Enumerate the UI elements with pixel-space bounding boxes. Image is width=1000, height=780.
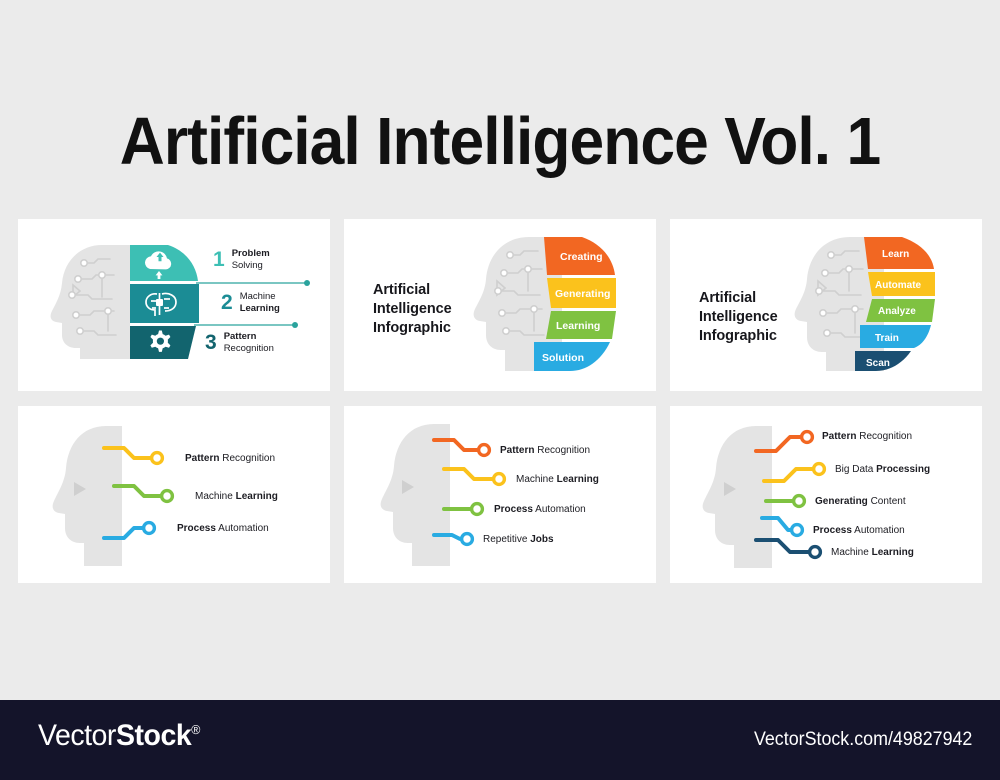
head-silhouette-solid: [381, 424, 450, 566]
connector-label-3: Process Automation: [494, 505, 586, 515]
connector-endpoint-4: [462, 534, 473, 545]
connector-label-1: Pattern Recognition: [185, 454, 275, 464]
card3-heading: Artificial Intelligence Infographic: [699, 289, 778, 346]
head-segment-problem-solving[interactable]: [130, 245, 198, 281]
band-label-solution: Solution: [542, 352, 584, 364]
band-label-analyze: Analyze: [878, 306, 916, 317]
head-silhouette-solid: [703, 426, 772, 568]
connector-path-2: [444, 469, 496, 479]
step-item-2[interactable]: 2 MachineLearning: [221, 291, 280, 314]
connector-label-2: Machine Learning: [195, 492, 278, 502]
infographic-page: Artificial Intelligence Vol. 1: [0, 0, 1000, 780]
connector-line-1: [196, 280, 310, 286]
connector-label-3: Generating Content: [815, 497, 906, 507]
band-label-train: Train: [875, 333, 899, 344]
connector-label-1: Pattern Recognition: [822, 432, 912, 442]
card-three-connectors[interactable]: Pattern Recognition Machine Learning Pro…: [18, 406, 330, 583]
band-label-generating: Generating: [555, 288, 610, 300]
vectorstock-logo: VectorStock®: [38, 721, 200, 751]
band-label-learning: Learning: [556, 320, 600, 332]
card-four-band-head[interactable]: Artificial Intelligence Infographic: [344, 219, 656, 391]
band-label-automate: Automate: [875, 280, 922, 291]
head-segment-machine-learning[interactable]: [130, 284, 199, 323]
step-item-1[interactable]: 1 ProblemSolving: [213, 248, 270, 271]
head-silhouette-circuit: [51, 245, 130, 359]
connector-label-3: Process Automation: [177, 524, 269, 534]
step-label-2: MachineLearning: [240, 291, 280, 314]
connector-endpoint-4: [792, 525, 803, 536]
step-item-3[interactable]: 3 PatternRecognition: [205, 331, 274, 354]
connector-endpoint-3: [472, 504, 483, 515]
card5-graphic: [344, 406, 656, 583]
connector-label-5: Machine Learning: [831, 548, 914, 558]
connector-label-2: Big Data Processing: [835, 465, 930, 475]
card-five-band-head[interactable]: Artificial Intelligence Infographic: [670, 219, 982, 391]
connector-endpoint-2: [814, 464, 825, 475]
head-segment-pattern-recognition[interactable]: [130, 326, 196, 359]
card-four-connectors[interactable]: Pattern Recognition Machine Learning Pro…: [344, 406, 656, 583]
connector-endpoint-2: [494, 474, 505, 485]
connector-label-4: Repetitive Jobs: [483, 535, 554, 545]
step-number-2: 2: [221, 292, 233, 313]
band-label-creating: Creating: [560, 251, 603, 263]
step-label-1: ProblemSolving: [232, 248, 270, 271]
step-number-1: 1: [213, 249, 225, 270]
connector-line-2: [194, 322, 298, 328]
vectorstock-url: VectorStock.com/49827942: [754, 730, 972, 749]
connector-endpoint-3: [144, 523, 155, 534]
connector-endpoint-1: [479, 445, 490, 456]
card2-heading: Artificial Intelligence Infographic: [373, 281, 452, 338]
page-title: Artificial Intelligence Vol. 1: [35, 103, 965, 180]
connector-label-4: Process Automation: [813, 526, 905, 536]
card4-graphic: [18, 406, 330, 583]
connector-endpoint-5: [810, 547, 821, 558]
step-number-3: 3: [205, 332, 217, 353]
band-label-scan: Scan: [866, 358, 890, 369]
card-five-connectors[interactable]: Pattern Recognition Big Data Processing …: [670, 406, 982, 583]
connector-endpoint-3: [794, 496, 805, 507]
step-label-3: PatternRecognition: [224, 331, 274, 354]
connector-label-1: Pattern Recognition: [500, 446, 590, 456]
footer-bar: VectorStock® VectorStock.com/49827942: [0, 700, 1000, 780]
band-label-learn: Learn: [882, 249, 909, 260]
connector-endpoint-1: [802, 432, 813, 443]
connector-endpoint-2: [162, 491, 173, 502]
connector-endpoint-1: [152, 453, 163, 464]
card1-graphic: [18, 219, 330, 391]
card-numbered-steps[interactable]: 1 ProblemSolving 2 MachineLearning 3 Pat…: [18, 219, 330, 391]
connector-label-2: Machine Learning: [516, 475, 599, 485]
